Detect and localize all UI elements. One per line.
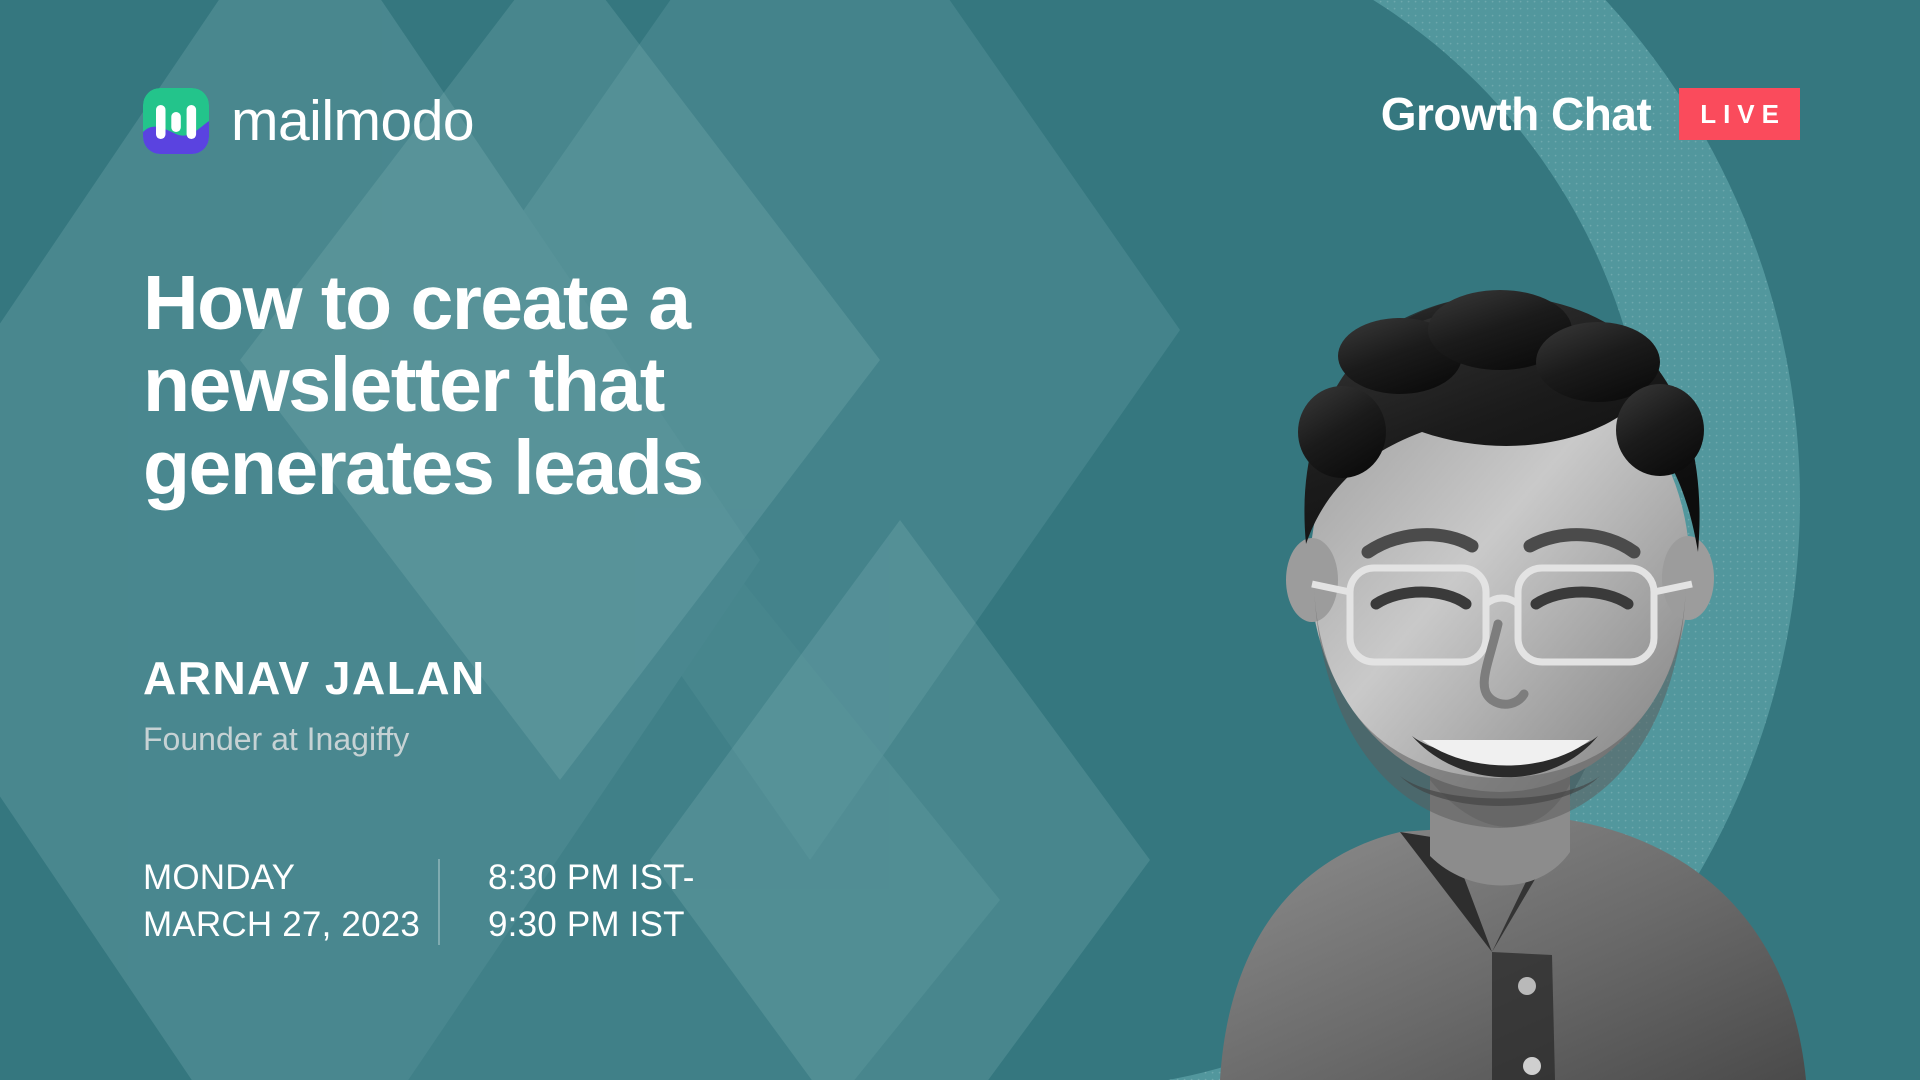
mailmodo-logo-mark <box>143 88 209 154</box>
speaker-name: ARNAV JALAN <box>143 655 486 701</box>
headline-line-1: How to create a <box>143 262 903 344</box>
speaker-role: Founder at Inagiffy <box>143 723 486 755</box>
live-badge: LIVE <box>1679 88 1800 140</box>
schedule-day: MONDAY <box>143 855 438 902</box>
speaker-portrait <box>1100 180 1860 1080</box>
speaker-block: ARNAV JALAN Founder at Inagiffy <box>143 655 486 755</box>
schedule-block: MONDAY MARCH 27, 2023 8:30 PM IST- 9:30 … <box>143 855 695 949</box>
schedule-date: MONDAY MARCH 27, 2023 <box>143 855 438 949</box>
headline-line-2: newsletter that <box>143 344 903 426</box>
headline-line-3: generates leads <box>143 427 903 509</box>
page-title: How to create a newsletter that generate… <box>143 262 903 509</box>
schedule-time-end: 9:30 PM IST <box>488 902 695 949</box>
shirt-button <box>1518 977 1536 995</box>
shirt-button <box>1523 1057 1541 1075</box>
webinar-promo-poster: mailmodo Growth Chat LIVE How to create … <box>0 0 1920 1080</box>
schedule-full-date: MARCH 27, 2023 <box>143 902 438 949</box>
schedule-time: 8:30 PM IST- 9:30 PM IST <box>488 855 695 949</box>
schedule-divider <box>438 859 440 945</box>
show-tag: Growth Chat LIVE <box>1381 88 1800 140</box>
schedule-time-start: 8:30 PM IST- <box>488 855 695 902</box>
brand-wordmark: mailmodo <box>231 93 474 150</box>
portrait-svg <box>1100 180 1860 1080</box>
logo-mark-svg <box>143 88 209 154</box>
show-title: Growth Chat <box>1381 91 1651 137</box>
brand-lockup[interactable]: mailmodo <box>143 88 474 154</box>
